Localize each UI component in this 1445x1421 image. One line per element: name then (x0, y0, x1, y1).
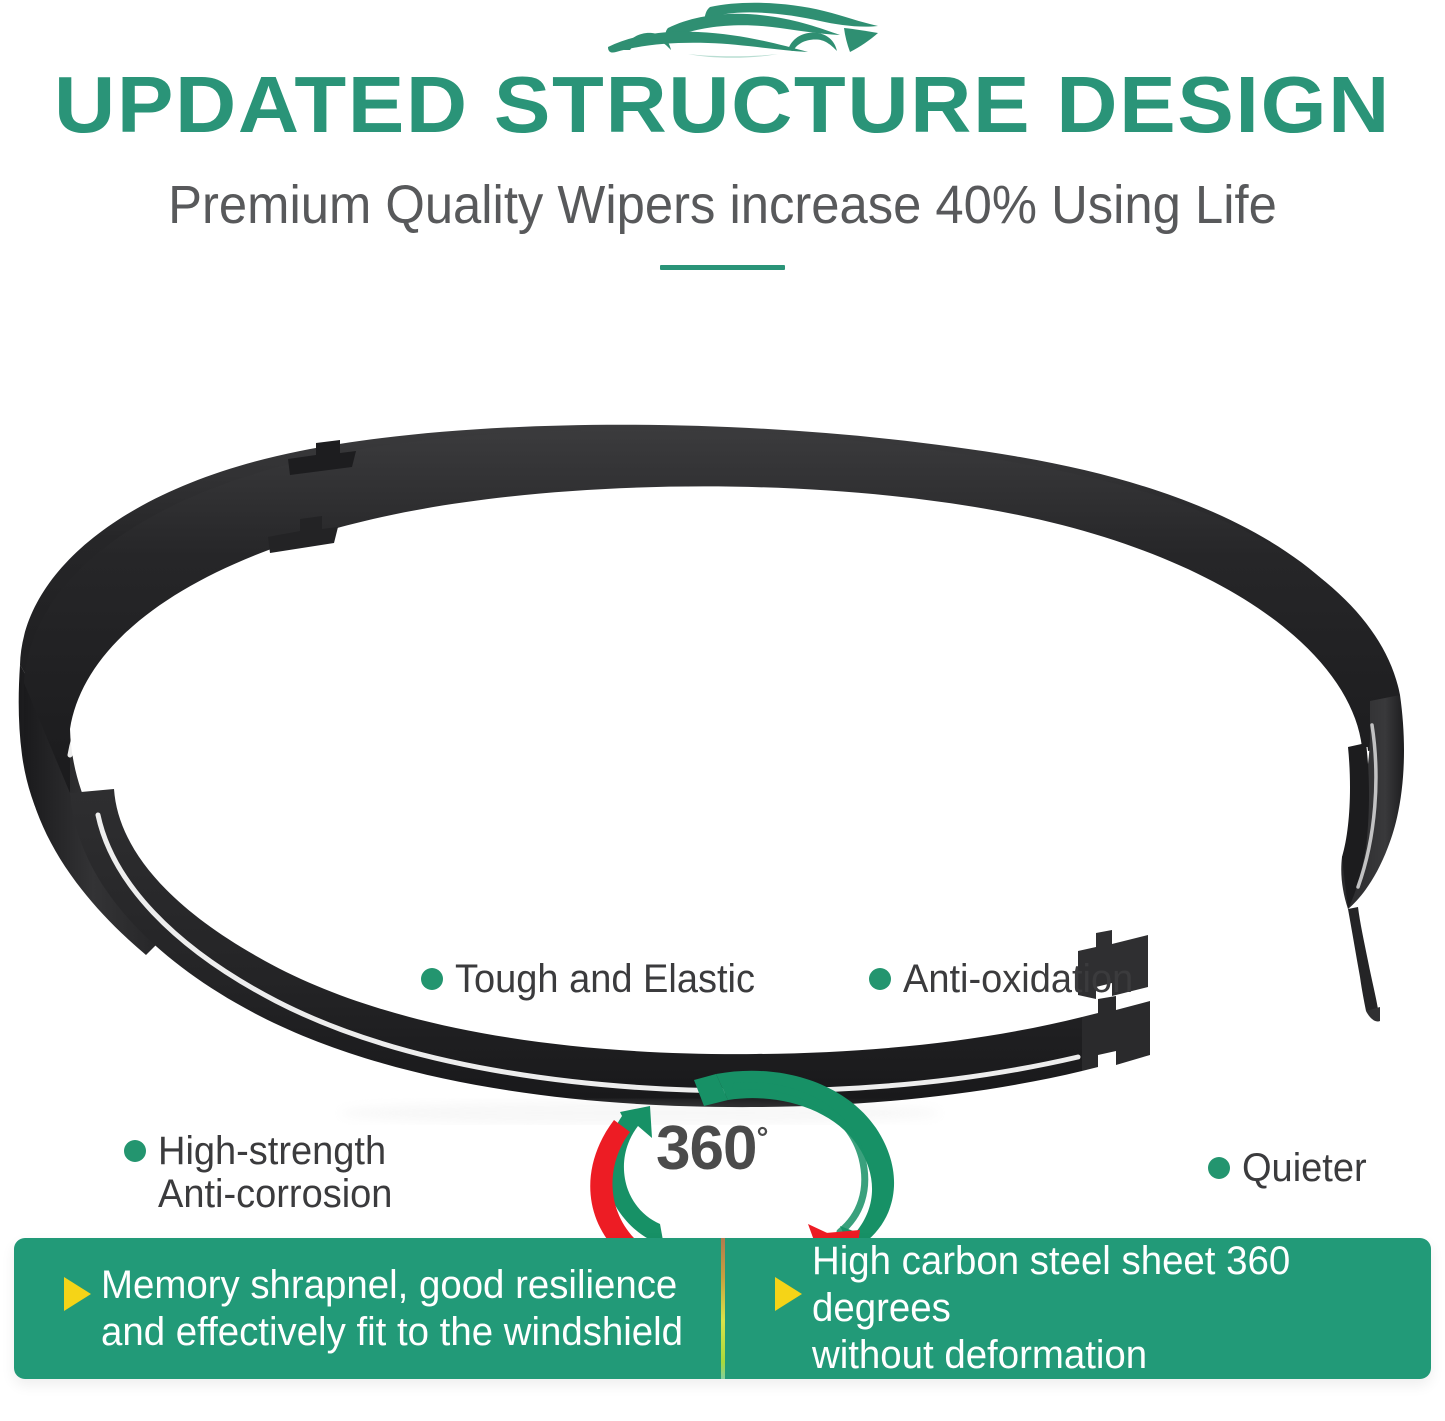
bottom-feature-banner: Memory shrapnel, good resilience and eff… (14, 1238, 1431, 1379)
page-title: UPDATED STRUCTURE DESIGN (0, 62, 1445, 148)
feature-label-line2: Anti-corrosion (158, 1173, 392, 1216)
banner-panel-memory-shrapnel: Memory shrapnel, good resilience and eff… (14, 1238, 721, 1379)
feature-callout-anti-oxidation: Anti-oxidation (869, 958, 1145, 1001)
bullet-dot-icon (1208, 1157, 1230, 1179)
banner-text-group: Memory shrapnel, good resilience and eff… (101, 1262, 683, 1356)
bullet-dot-icon (124, 1140, 146, 1162)
feature-label-group: High-strength Anti-corrosion (158, 1130, 392, 1216)
car-silhouette-icon (592, 2, 882, 58)
banner-panel-high-carbon-steel: High carbon steel sheet 360 degrees with… (725, 1238, 1432, 1379)
banner-text-line2: and effectively fit to the windshield (101, 1309, 683, 1356)
feature-label: Tough and Elastic (455, 958, 755, 1001)
feature-callout-tough-and-elastic: Tough and Elastic (421, 958, 771, 1001)
banner-text-line1: Memory shrapnel, good resilience (101, 1263, 677, 1307)
bullet-dot-icon (421, 968, 443, 990)
triangle-arrow-icon (775, 1277, 802, 1311)
page-subtitle: Premium Quality Wipers increase 40% Usin… (43, 175, 1401, 235)
bullet-dot-icon (869, 968, 891, 990)
feature-callout-quieter: Quieter (1208, 1147, 1373, 1190)
banner-text-line1: High carbon steel sheet 360 degrees (812, 1239, 1290, 1330)
triangle-arrow-icon (64, 1277, 91, 1311)
header: UPDATED STRUCTURE DESIGN Premium Quality… (0, 0, 1445, 300)
banner-text-group: High carbon steel sheet 360 degrees with… (812, 1238, 1407, 1379)
feature-label: Anti-oxidation (903, 958, 1133, 1001)
feature-label: Quieter (1242, 1147, 1367, 1190)
banner-text-line2: without deformation (812, 1332, 1407, 1379)
feature-label-line1: High-strength (158, 1129, 386, 1173)
badge-value-text: 360° (656, 1118, 767, 1180)
wiper-blade-steel-strip (0, 395, 1445, 1125)
feature-callout-high-strength: High-strength Anti-corrosion (124, 1130, 405, 1216)
title-underline-divider (660, 265, 785, 270)
product-image-stage: Tough and Elastic Anti-oxidation High-st… (0, 395, 1445, 1125)
